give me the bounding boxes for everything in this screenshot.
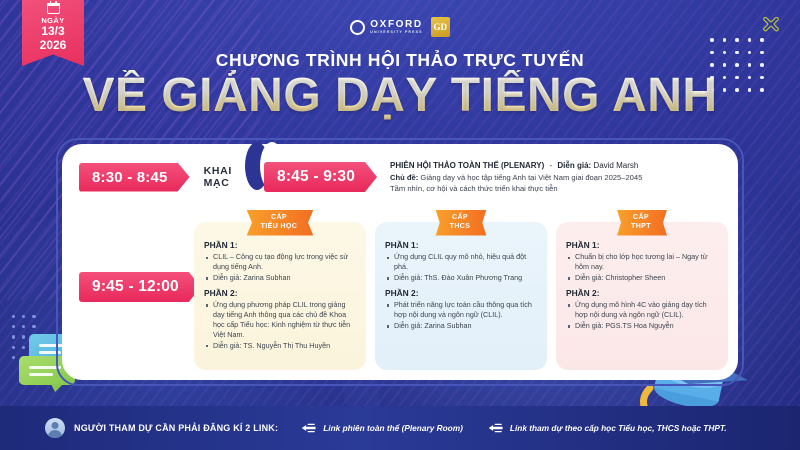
level-tag-line1: CẤP (631, 214, 651, 223)
session-card-primary: CẤP TIỂU HỌC PHẦN 1: CLIL – Công cụ tạo … (194, 222, 366, 370)
oxford-logo-name: OXFORD (370, 20, 422, 30)
schedule-panel: 8:30 - 8:45 KHAI MẠC 8:45 - 9:30 PHIÊN H… (62, 144, 738, 380)
plenary-topic: Giảng dạy và học tập tiếng Anh tại Việt … (420, 173, 642, 182)
level-room-link-text: Link tham dự theo cấp học Tiểu học, THCS… (510, 423, 727, 433)
list-item: Diễn giả: TS. Nguyễn Thị Thu Huyền (206, 341, 356, 351)
level-tag-line1: CẤP (261, 214, 298, 223)
list-item: Diễn giả: Christopher Sheen (568, 273, 718, 283)
level-tag-line1: CẤP (450, 214, 471, 223)
calendar-icon (47, 1, 60, 14)
registration-notice: NGƯỜI THAM DỰ CẦN PHẢI ĐĂNG KÍ 2 LINK: (74, 423, 278, 433)
level-tag-highschool: CẤP THPT (617, 210, 667, 236)
oxford-ring-icon (350, 20, 365, 35)
event-subtitle: CHƯƠNG TRÌNH HỘI THẢO TRỰC TUYẾN (0, 50, 800, 71)
part-2-items: Phát triển năng lực toàn cầu thông qua t… (387, 300, 537, 331)
oxford-logo-sub: UNIVERSITY PRESS (370, 31, 422, 35)
session-card-secondary: CẤP THCS PHẦN 1: Ứng dụng CLIL quy mô nh… (375, 222, 547, 370)
list-item: Ứng dụng mô hình 4C vào giảng dạy tích h… (568, 300, 718, 320)
plenary-separator: - (547, 161, 556, 170)
part-2-items: Ứng dụng mô hình 4C vào giảng dạy tích h… (568, 300, 718, 331)
partner-logo: GD (431, 17, 450, 37)
pointing-hand-icon (488, 422, 504, 434)
time-badge-opening: 8:30 - 8:45 (79, 163, 190, 192)
part-1-label: PHẦN 1: (566, 240, 718, 250)
time-badge-sessions-wrap: 9:45 - 12:00 (79, 272, 201, 302)
list-item: Diễn giả: Zarina Subhan (387, 321, 537, 331)
plenary-speaker-label: Diễn giả: (557, 161, 591, 170)
list-item: Phát triển năng lực toàn cầu thông qua t… (387, 300, 537, 320)
level-tag-line2: TIỂU HỌC (261, 223, 298, 232)
time-badge-sessions: 9:45 - 12:00 (79, 272, 201, 302)
pointing-hand-icon (301, 422, 317, 434)
page-title: VỀ GIẢNG DẠY TIẾNG ANH (0, 70, 800, 122)
plenary-topic-label: Chủ đề: (390, 173, 418, 182)
plenary-room-link[interactable]: Link phiên toàn thể (Plenary Room) (301, 422, 463, 434)
list-item: Chuẩn bị cho lớp học tương lai – Ngay từ… (568, 252, 718, 272)
part-1-items: CLIL – Công cụ tạo động lực trong việc s… (206, 252, 356, 283)
schedule-row-opening: 8:30 - 8:45 KHAI MẠC 8:45 - 9:30 PHIÊN H… (62, 154, 738, 200)
list-item: Diễn giả: ThS. Đào Xuân Phương Trang (387, 273, 537, 283)
logo-row: OXFORD UNIVERSITY PRESS GD (0, 17, 800, 37)
session-card-highschool: CẤP THPT PHẦN 1: Chuẩn bị cho lớp học tư… (556, 222, 728, 370)
part-1-items: Ứng dụng CLIL quy mô nhỏ, hiệu quả đột p… (387, 252, 537, 283)
part-2-label: PHẦN 2: (204, 288, 356, 298)
session-cards: CẤP TIỂU HỌC PHẦN 1: CLIL – Công cụ tạo … (194, 222, 728, 370)
footer-bar: NGƯỜI THAM DỰ CẦN PHẢI ĐĂNG KÍ 2 LINK: L… (0, 406, 800, 450)
part-2-items: Ứng dụng phương pháp CLIL trong giảng dạ… (206, 300, 356, 351)
plenary-heading: PHIÊN HỘI THẢO TOÀN THỂ (PLENARY) (390, 161, 544, 170)
list-item: Diễn giả: Zarina Subhan (206, 273, 356, 283)
part-2-label: PHẦN 2: (385, 288, 537, 298)
part-1-label: PHẦN 1: (385, 240, 537, 250)
level-room-link[interactable]: Link tham dự theo cấp học Tiểu học, THCS… (488, 422, 727, 434)
level-tag-line2: THPT (631, 223, 651, 232)
part-1-label: PHẦN 1: (204, 240, 356, 250)
plenary-speaker: David Marsh (593, 161, 638, 170)
list-item: CLIL – Công cụ tạo động lực trong việc s… (206, 252, 356, 272)
opening-label: KHAI MẠC (204, 165, 254, 189)
list-item: Ứng dụng phương pháp CLIL trong giảng dạ… (206, 300, 356, 340)
oxford-university-press-logo: OXFORD UNIVERSITY PRESS (350, 20, 422, 35)
level-tag-secondary: CẤP THCS (436, 210, 487, 236)
part-1-items: Chuẩn bị cho lớp học tương lai – Ngay từ… (568, 252, 718, 283)
plenary-room-link-text: Link phiên toàn thể (Plenary Room) (323, 423, 463, 433)
list-item: Ứng dụng CLIL quy mô nhỏ, hiệu quả đột p… (387, 252, 537, 272)
time-badge-plenary: 8:45 - 9:30 (264, 162, 377, 192)
part-2-label: PHẦN 2: (566, 288, 718, 298)
user-avatar-icon (45, 418, 65, 438)
plenary-details: PHIÊN HỘI THẢO TOÀN THỂ (PLENARY) - Diễn… (390, 160, 642, 194)
list-item: Diễn giả: PGS.TS Hoa Nguyễn (568, 321, 718, 331)
level-tag-primary: CẤP TIỂU HỌC (247, 210, 314, 236)
plenary-topic-line2: Tầm nhìn, cơ hội và cách thức triển khai… (390, 183, 642, 194)
level-tag-line2: THCS (450, 223, 471, 232)
